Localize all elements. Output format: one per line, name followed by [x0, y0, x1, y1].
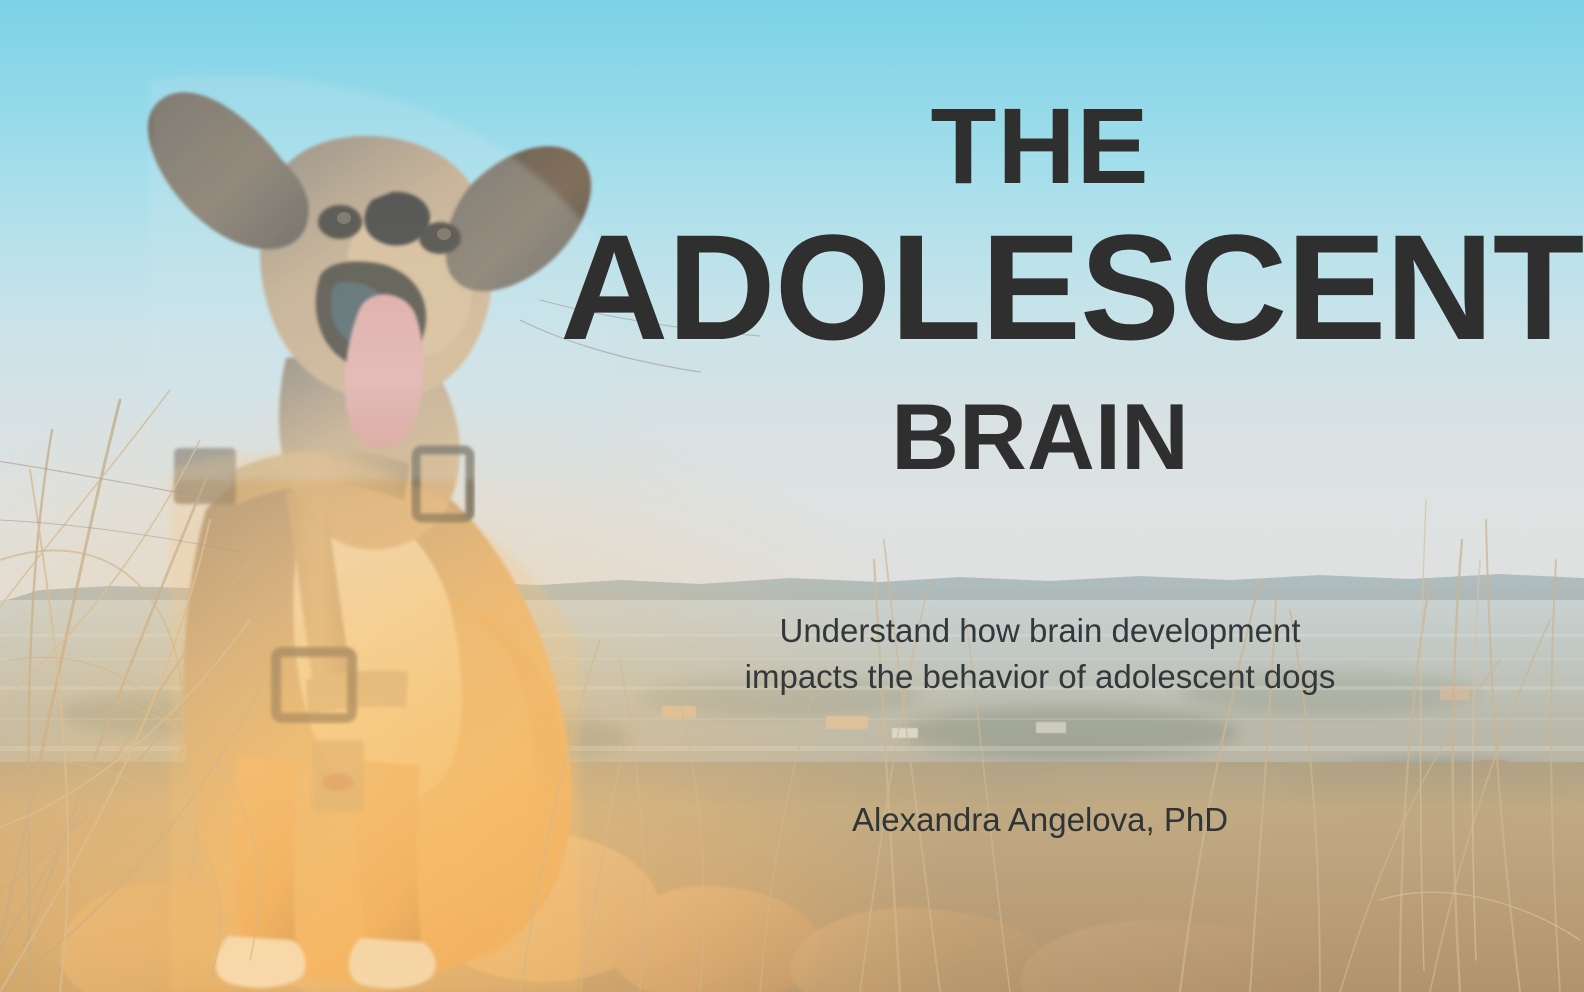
- title-line-the: THE: [560, 92, 1520, 200]
- title-line-adolescent: ADOLESCENT: [560, 206, 1520, 368]
- slide-subtitle: Understand how brain development impacts…: [640, 608, 1440, 699]
- presentation-slide: THE ADOLESCENT BRAIN Understand how brai…: [0, 0, 1584, 992]
- subtitle-line-2: impacts the behavior of adolescent dogs: [640, 654, 1440, 700]
- subtitle-line-1: Understand how brain development: [640, 608, 1440, 654]
- slide-title-block: THE ADOLESCENT BRAIN: [560, 92, 1520, 484]
- title-line-brain: BRAIN: [560, 390, 1520, 484]
- dog-photo-subject: [110, 40, 630, 992]
- presenter-name: Alexandra Angelova, PhD: [640, 800, 1440, 840]
